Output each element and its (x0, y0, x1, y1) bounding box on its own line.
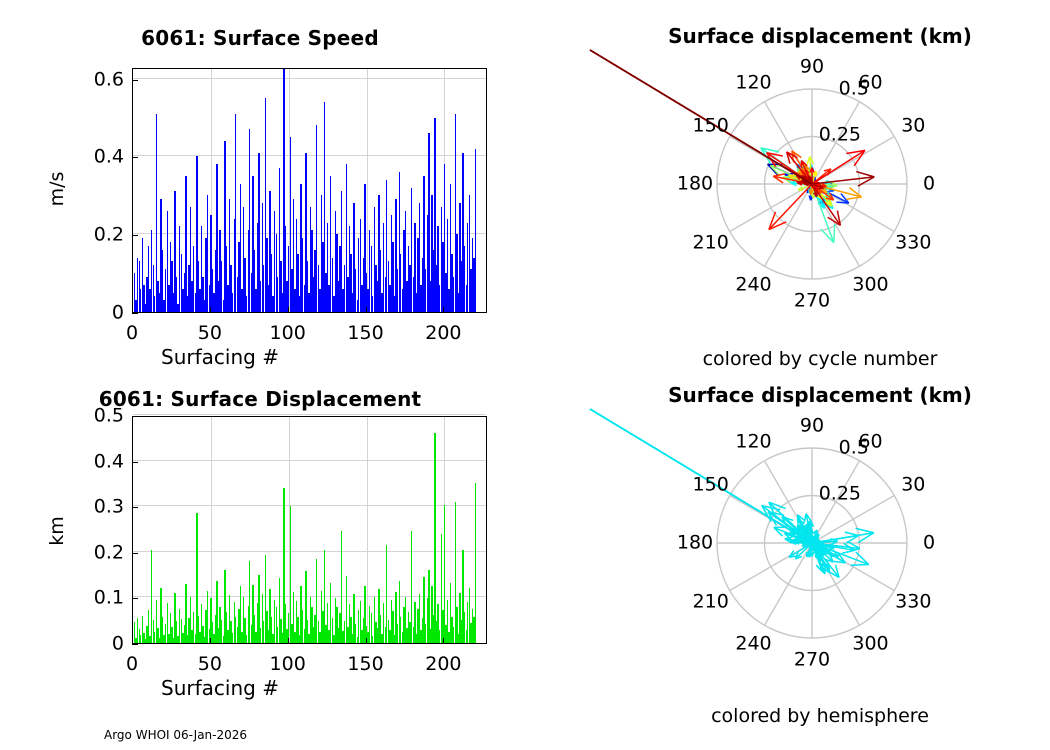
bar-series (133, 69, 486, 312)
x-axis-tick-label: 200 (425, 655, 461, 674)
polar-arrowhead (846, 197, 861, 199)
polar-angle-label: 240 (735, 635, 771, 654)
polar-hemisphere-title: Surface displacement (km) (590, 383, 1050, 407)
polar-angle-label: 240 (735, 276, 771, 295)
polar-cycle-title: Surface displacement (km) (590, 24, 1050, 48)
surface-speed-title: 6061: Surface Speed (0, 26, 520, 50)
x-axis-tick-label: 150 (347, 324, 383, 343)
polar-hemisphere-caption: colored by hemisphere (590, 705, 1050, 727)
x-axis-tick-label: 50 (198, 324, 222, 343)
polar-angle-label: 180 (677, 175, 713, 194)
x-axis-tick-mark (366, 307, 367, 313)
polar-angle-label: 270 (794, 292, 830, 311)
y-axis-tick-mark (132, 416, 138, 417)
x-axis-tick-label: 100 (270, 655, 306, 674)
polar-arrowhead (851, 565, 869, 566)
polar-hemisphere-panel: Surface displacement (km) 03060901201501… (590, 375, 1050, 750)
y-axis-tick-label: 0.6 (54, 70, 124, 89)
surface-speed-xlabel: Surfacing # (0, 345, 620, 369)
polar-angle-label: 180 (677, 534, 713, 553)
x-axis-tick-label: 100 (270, 324, 306, 343)
polar-angle-label: 30 (901, 475, 925, 494)
bar (444, 505, 445, 643)
polar-angle-label: 90 (800, 58, 824, 77)
y-axis-tick-mark (132, 462, 138, 463)
y-axis-tick-mark (132, 553, 138, 554)
polar-angle-label: 270 (794, 651, 830, 670)
polar-angle-label: 150 (693, 116, 729, 135)
y-axis-tick-mark (132, 644, 138, 645)
polar-radial-label: 0.5 (839, 80, 869, 99)
x-axis-tick-label: 150 (347, 655, 383, 674)
polar-arrowhead (827, 191, 834, 192)
y-axis-tick-label: 0 (54, 635, 124, 654)
x-axis-tick-label: 0 (126, 655, 138, 674)
polar-arrowhead (825, 553, 832, 554)
polar-radial-label: 0.25 (819, 484, 861, 503)
polar-arrowhead (830, 556, 839, 557)
x-axis-tick-mark (132, 307, 133, 313)
x-axis-tick-mark (210, 307, 211, 313)
bar (341, 531, 342, 643)
y-axis-tick-mark (132, 235, 138, 236)
polar-angle-label: 330 (895, 592, 931, 611)
polar-angle-label: 210 (693, 592, 729, 611)
bar-series (133, 417, 486, 643)
surface-displacement-axes (132, 416, 487, 644)
polar-arrow-series (590, 50, 874, 243)
polar-cycle-caption: colored by cycle number (590, 348, 1050, 370)
polar-cycle-plot: 03060901201501802102402703003300.250.5 (590, 50, 1050, 320)
y-axis-tick-label: 0.2 (54, 226, 124, 245)
polar-radial-label: 0.25 (819, 125, 861, 144)
polar-arrowhead (804, 514, 806, 523)
y-axis-tick-mark (132, 507, 138, 508)
x-axis-tick-label: 50 (198, 655, 222, 674)
surface-speed-axes (132, 68, 487, 313)
polar-angle-label: 0 (923, 534, 935, 553)
bar (475, 149, 476, 312)
x-axis-tick-mark (132, 638, 133, 644)
polar-grid (590, 50, 1050, 320)
polar-angle-label: 300 (852, 635, 888, 654)
polar-hemisphere-plot: 03060901201501802102402703003300.250.5 (590, 409, 1050, 679)
x-axis-tick-label: 200 (425, 324, 461, 343)
polar-angle-label: 150 (693, 475, 729, 494)
y-axis-tick-label: 0.2 (54, 543, 124, 562)
polar-angle-label: 210 (693, 233, 729, 252)
polar-angle-label: 90 (800, 417, 824, 436)
surface-speed-ylabel: m/s (46, 159, 68, 219)
polar-angle-label: 30 (901, 116, 925, 135)
x-axis-tick-mark (366, 638, 367, 644)
gridline-horizontal (133, 414, 486, 415)
y-axis-tick-mark (132, 598, 138, 599)
x-axis-tick-mark (443, 638, 444, 644)
x-axis-tick-label: 0 (126, 324, 138, 343)
footer-credit: Argo WHOI 06-Jan-2026 (104, 728, 247, 742)
y-axis-tick-mark (132, 157, 138, 158)
y-axis-tick-label: 0.4 (54, 452, 124, 471)
polar-angle-label: 330 (895, 233, 931, 252)
x-axis-tick-mark (288, 307, 289, 313)
y-axis-tick-label: 0.4 (54, 148, 124, 167)
polar-angle-label: 120 (735, 432, 771, 451)
polar-angle-label: 120 (735, 73, 771, 92)
polar-angle-label: 300 (852, 276, 888, 295)
polar-radial-label: 0.5 (839, 439, 869, 458)
bar (475, 483, 476, 644)
polar-cycle-panel: Surface displacement (km) 03060901201501… (590, 0, 1050, 375)
y-axis-tick-label: 0.3 (54, 498, 124, 517)
polar-grid (590, 409, 1050, 679)
x-axis-tick-mark (210, 638, 211, 644)
bar (185, 176, 186, 312)
y-axis-tick-label: 0.1 (54, 589, 124, 608)
surface-speed-panel: 6061: Surface Speed m/s Surfacing # 00.2… (0, 0, 520, 375)
y-axis-tick-label: 0.5 (54, 407, 124, 426)
polar-arrowhead (816, 171, 817, 176)
bar (290, 506, 291, 643)
y-axis-tick-mark (132, 80, 138, 81)
x-axis-tick-mark (443, 307, 444, 313)
y-axis-tick-mark (132, 313, 138, 314)
polar-arrowhead (836, 202, 848, 203)
surface-displacement-panel: 6061: Surface Displacement km Surfacing … (0, 375, 520, 750)
polar-arrowhead (834, 224, 835, 243)
bar (434, 433, 435, 643)
x-axis-tick-mark (288, 638, 289, 644)
surface-displacement-xlabel: Surfacing # (0, 676, 620, 700)
polar-angle-label: 0 (923, 175, 935, 194)
y-axis-tick-label: 0 (54, 304, 124, 323)
